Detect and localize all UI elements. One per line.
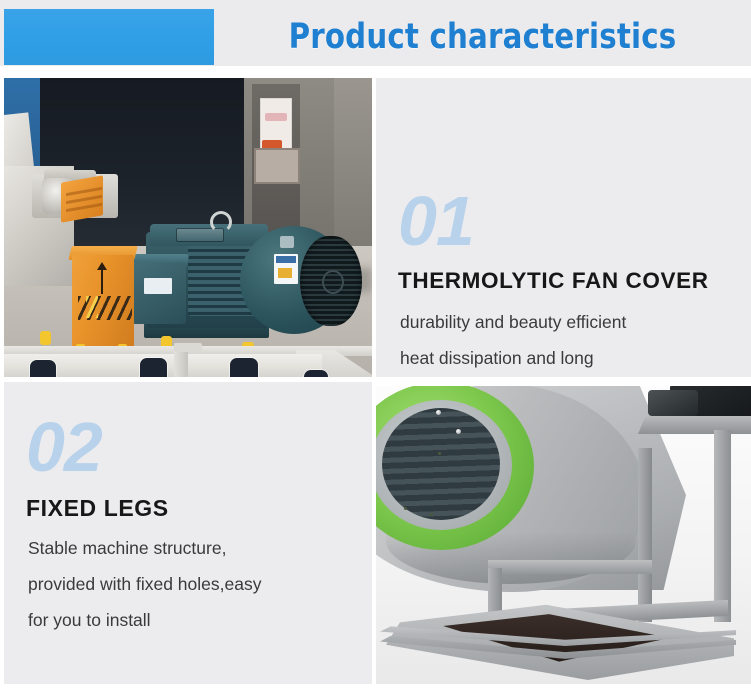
card-01-body-line-2: heat dissipation and long: [400, 340, 740, 376]
photo2-frame-leg-middle: [638, 448, 652, 622]
card-02-body-line-2: provided with fixed holes,easy: [28, 566, 358, 602]
card-02-body-line-3: for you to install: [28, 602, 358, 638]
feature-card-02: 02 FIXED LEGS Stable machine structure, …: [4, 382, 372, 684]
card-01-title: THERMOLYTIC FAN COVER: [398, 268, 709, 294]
photo2-inlet-screw-3: [438, 452, 441, 455]
photo1-chevron-highlight: [86, 296, 98, 318]
photo1-motor-logo: [280, 236, 294, 248]
photo1-lifting-eye-icon: [210, 211, 232, 233]
page-header: Product characteristics: [0, 0, 751, 66]
photo1-junction-label: [144, 278, 172, 294]
photo1-up-arrow-icon: [101, 268, 103, 294]
feature-card-01: 01 THERMOLYTIC FAN COVER durability and …: [376, 78, 751, 377]
card-02-number: 02: [26, 412, 102, 482]
photo2-inlet-screw-4: [404, 507, 407, 510]
photo1-base-cutout-2: [140, 358, 167, 377]
motor-and-machine-photo: [4, 78, 372, 377]
photo1-bolt-cap-3: [40, 331, 51, 345]
photo1-base-cutout-4: [304, 370, 328, 377]
photo1-door-panel-right: [334, 78, 372, 254]
photo2-frame-crossbar: [488, 560, 652, 574]
photo2-top-edge: [376, 382, 751, 386]
photo1-wall-frame: [254, 148, 300, 184]
photo2-impeller-blades: [382, 408, 500, 520]
card-02-body-line-1: Stable machine structure,: [28, 530, 358, 566]
photo1-base-cutout-3: [230, 358, 258, 377]
blower-and-frame-photo: [376, 382, 751, 684]
photo1-base-cutout-1: [30, 360, 56, 377]
photo2-motor-mount-plate: [638, 416, 751, 434]
photo2-motor-block-lower: [648, 390, 698, 416]
card-02-title: FIXED LEGS: [26, 495, 169, 522]
card-01-body-line-1: durability and beauty efficient: [400, 304, 740, 340]
photo2-inlet-screw-5: [430, 513, 433, 516]
photo2-inlet-screw-2: [456, 429, 461, 434]
photo1-lifting-bracket-top: [174, 343, 202, 352]
photo1-motor-sticker: [274, 254, 298, 284]
photo1-fan-cover-hub: [322, 270, 344, 294]
card-01-number: 01: [398, 186, 474, 256]
photo2-frame-leg-right: [714, 430, 731, 622]
header-accent-block: [4, 9, 214, 65]
photo2-inlet-screw-1: [436, 410, 441, 415]
page-title: Product characteristics: [233, 9, 732, 65]
card-01-body-line-3: service life: [400, 376, 740, 377]
